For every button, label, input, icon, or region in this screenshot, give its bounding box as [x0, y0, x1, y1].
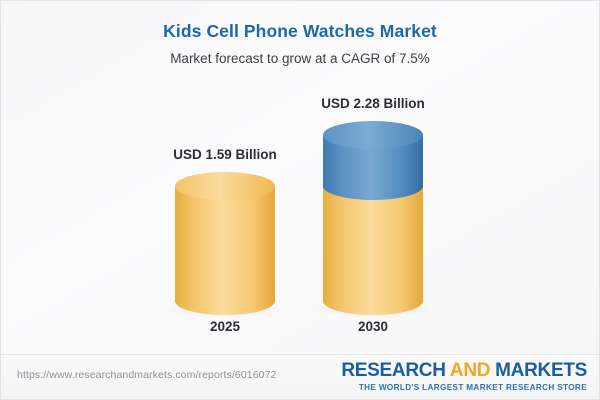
value-label-2025: USD 1.59 Billion	[125, 147, 325, 162]
footer-bar: https://www.researchandmarkets.com/repor…	[1, 354, 600, 399]
chart-plot-area: USD 1.59 Billion USD 2.28 Billion 2025 2…	[1, 1, 600, 357]
logo-tagline: THE WORLD'S LARGEST MARKET RESEARCH STOR…	[341, 384, 587, 392]
logo-wordmark: RESEARCH AND MARKETS	[341, 361, 587, 380]
infographic-card: Kids Cell Phone Watches Market Market fo…	[0, 0, 600, 400]
cylinder-bar-chart	[1, 1, 600, 357]
bar-2030-segment-base	[323, 186, 423, 315]
bar-2030-top-cap	[323, 121, 423, 149]
logo-word-and: AND	[450, 360, 490, 381]
category-label-2030: 2030	[273, 319, 473, 334]
bar-2030[interactable]	[323, 121, 423, 315]
logo-word-markets: MARKETS	[495, 360, 587, 381]
research-and-markets-logo[interactable]: RESEARCH AND MARKETS THE WORLD'S LARGEST…	[341, 361, 587, 392]
value-label-2030: USD 2.28 Billion	[273, 96, 473, 111]
logo-word-research: RESEARCH	[341, 360, 445, 381]
source-url-link[interactable]: https://www.researchandmarkets.com/repor…	[17, 369, 276, 381]
bar-2025[interactable]	[175, 172, 275, 315]
